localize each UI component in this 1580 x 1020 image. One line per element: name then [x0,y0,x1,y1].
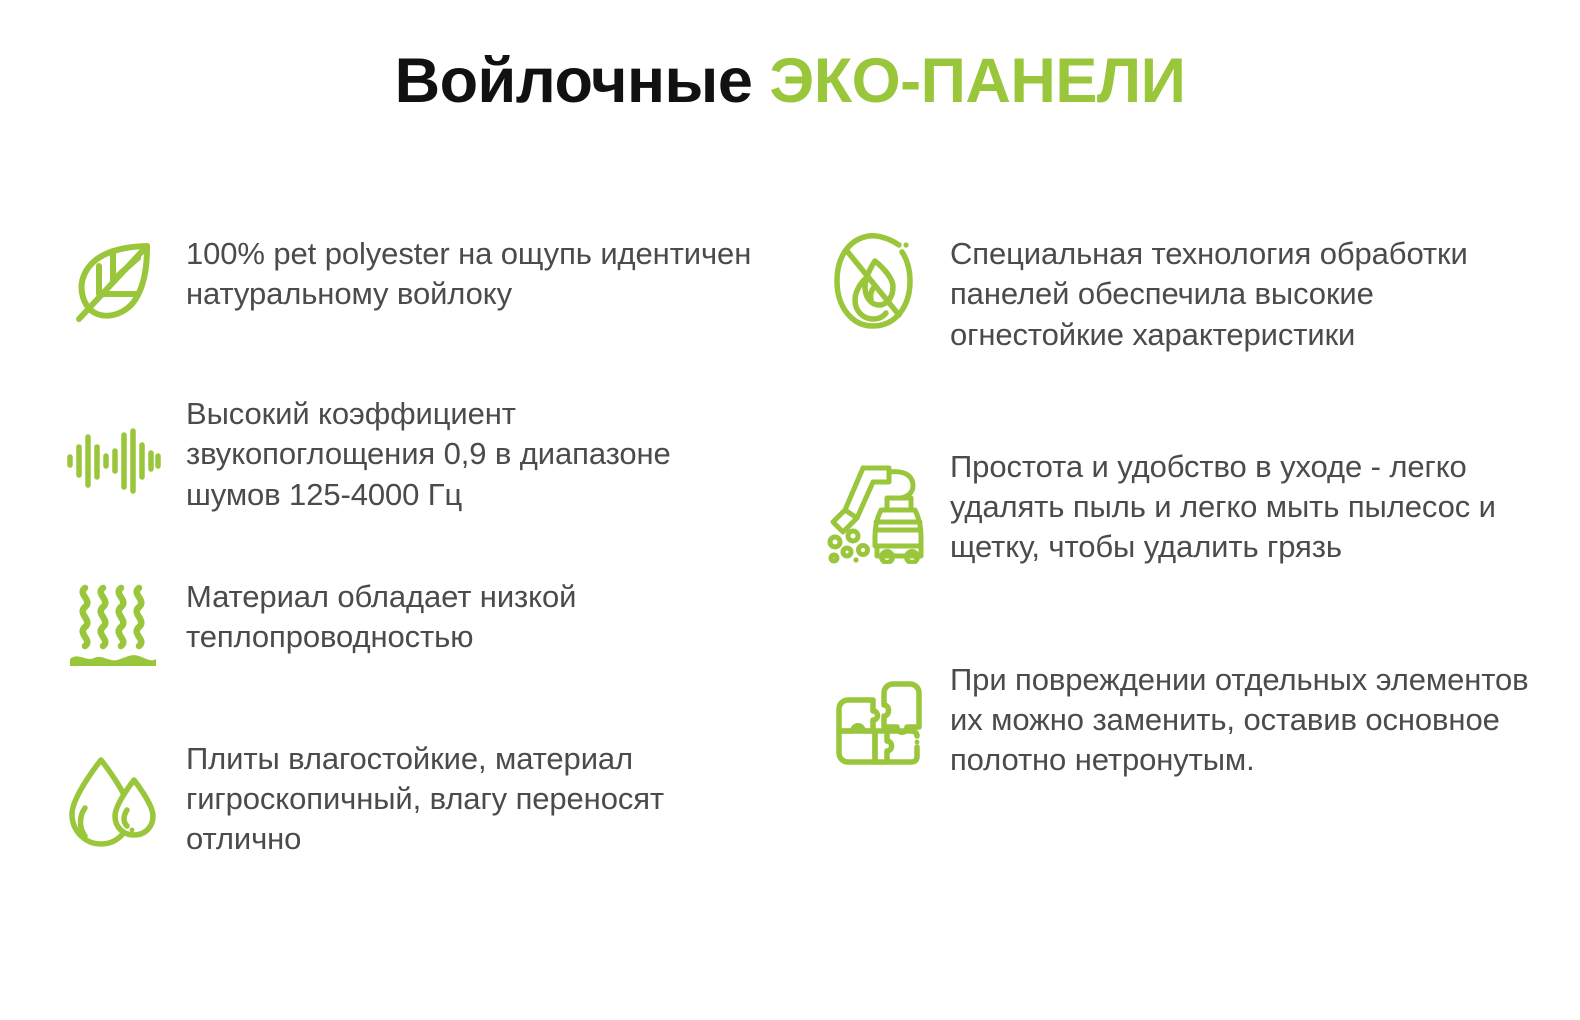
page-title: Войлочные ЭКО-ПАНЕЛИ [0,48,1580,114]
feature-text: Плиты влагостойкие, материал гигроскопич… [164,733,770,860]
water-drop-icon [62,751,164,853]
features-right-column: Специальная технология обработки панелей… [790,228,1580,781]
vacuum-cleaner-icon [826,461,928,563]
slide-root: Войлочные ЭКО-ПАНЕЛИ 100% pet pol [0,0,1580,1020]
feature-item: Плиты влагостойкие, материал гигроскопич… [62,733,770,860]
puzzle-pieces-icon [826,672,928,774]
feature-text: 100% pet polyester на ощупь идентичен на… [164,228,770,315]
title-dark-part: Войлочные [395,46,753,116]
feature-text: Простота и удобство в уходе - легко удал… [928,441,1540,568]
feature-text: Материал обладает низкой теплопроводност… [164,571,770,658]
feature-item: 100% pet polyester на ощупь идентичен на… [62,228,770,332]
feature-item: Высокий коэффициент звукопоглощения 0,9 … [62,388,770,515]
sound-wave-icon [62,410,164,512]
features-columns: 100% pet polyester на ощупь идентичен на… [0,228,1580,860]
leaf-icon [62,230,164,332]
feature-item: Специальная технология обработки панелей… [826,228,1540,355]
features-left-column: 100% pet polyester на ощупь идентичен на… [0,228,790,860]
no-fire-icon [826,230,928,332]
feature-text: При повреждении отдельных элементов их м… [928,654,1540,781]
title-accent-part: ЭКО-ПАНЕЛИ [769,46,1185,116]
feature-item: Материал обладает низкой теплопроводност… [62,571,770,677]
feature-text: Высокий коэффициент звукопоглощения 0,9 … [164,388,770,515]
feature-item: При повреждении отдельных элементов их м… [826,654,1540,781]
feature-item: Простота и удобство в уходе - легко удал… [826,441,1540,568]
heat-waves-icon [62,575,164,677]
feature-text: Специальная технология обработки панелей… [928,228,1540,355]
